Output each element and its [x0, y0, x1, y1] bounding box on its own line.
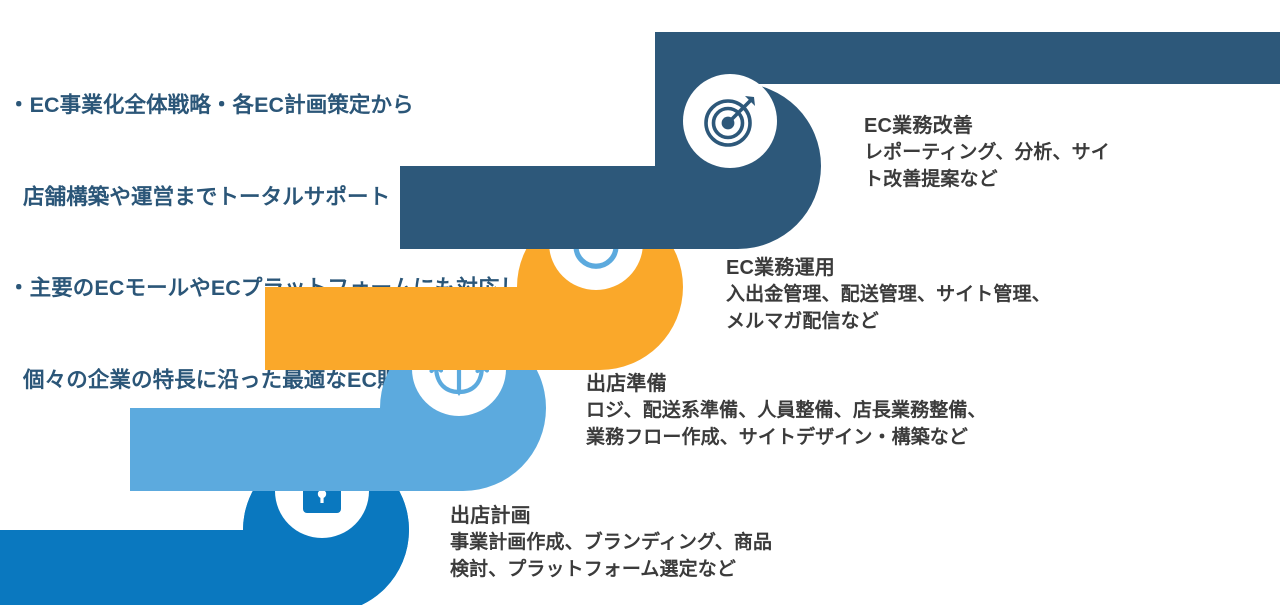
step-caption-store-plan: 出店計画 事業計画作成、ブランディング、商品 検討、プラットフォーム選定など: [450, 503, 772, 583]
step-desc-store-plan: 事業計画作成、ブランディング、商品 検討、プラットフォーム選定など: [450, 530, 772, 582]
step-title-store-plan: 出店計画: [450, 503, 772, 529]
step-caption-store-preparation: 出店準備 ロジ、配送系準備、人員整備、店長業務整備、 業務フロー作成、サイトデザ…: [586, 371, 987, 451]
step-desc-ec-operation: 入出金管理、配送管理、サイト管理、 メルマガ配信など: [726, 282, 1051, 334]
step-title-ec-improvement: EC業務改善: [864, 113, 1110, 139]
step-title-ec-operation: EC業務運用: [726, 255, 1051, 281]
step-bar-ec-improvement-top: [738, 32, 1280, 84]
step-title-store-preparation: 出店準備: [586, 371, 987, 397]
step-shape-ec-improvement[interactable]: [400, 32, 1280, 249]
step-desc-store-preparation: ロジ、配送系準備、人員整備、店長業務整備、 業務フロー作成、サイトデザイン・構築…: [586, 398, 987, 450]
step-caption-ec-operation: EC業務運用 入出金管理、配送管理、サイト管理、 メルマガ配信など: [726, 255, 1051, 335]
step-desc-ec-improvement: レポーティング、分析、サイ ト改善提案など: [864, 140, 1110, 192]
infographic-canvas: ・EC事業化全体戦略・各EC計画策定から 店舗構築や運営までトータルサポート ・…: [0, 0, 1280, 605]
step-caption-ec-improvement: EC業務改善 レポーティング、分析、サイ ト改善提案など: [864, 113, 1110, 193]
